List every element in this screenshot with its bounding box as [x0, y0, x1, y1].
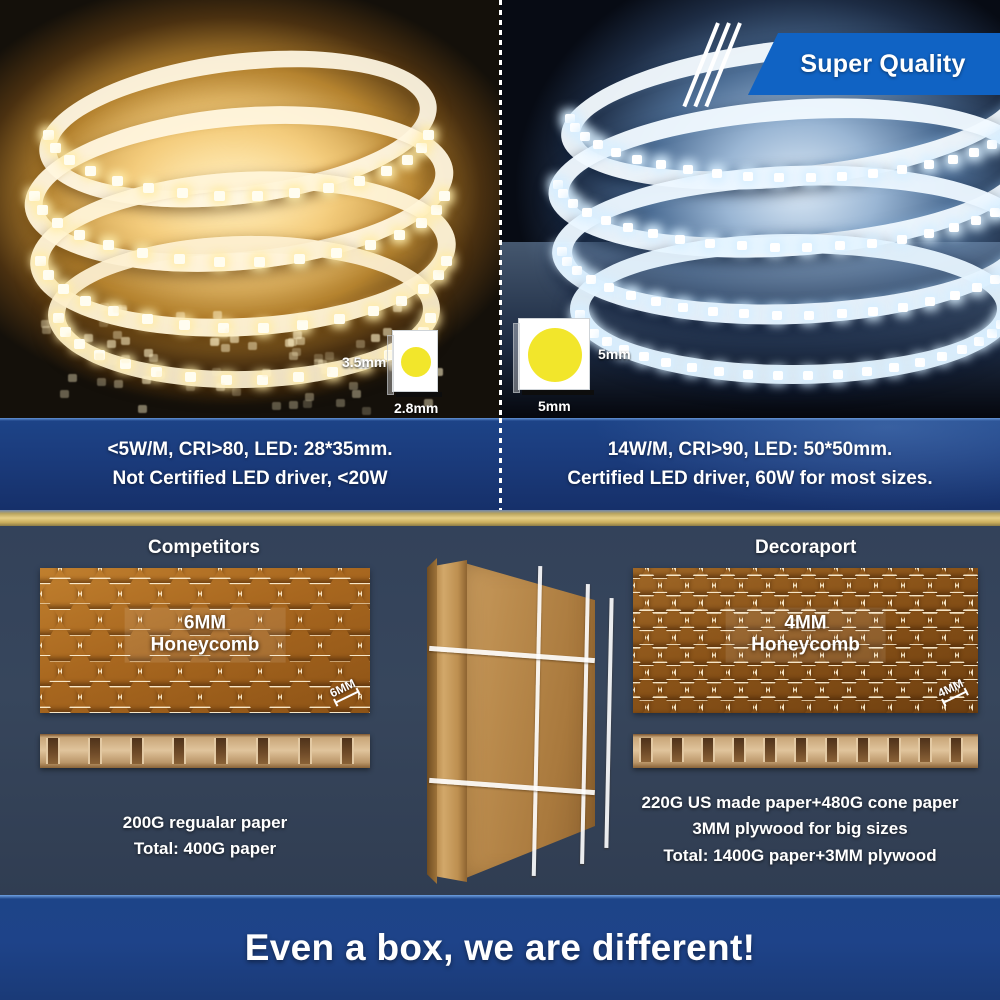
light-reflection: [248, 342, 257, 350]
cross-section-cell: [763, 738, 777, 762]
decoraport-honeycomb-label: 4MM Honeycomb: [725, 607, 886, 662]
honeycomb-size-line1: 4MM: [751, 612, 860, 634]
light-reflection: [325, 352, 334, 360]
led-dot: [678, 303, 688, 312]
light-reflection: [289, 352, 298, 360]
light-reflection: [285, 339, 294, 347]
competitor-honeycomb-label: 6MM Honeycomb: [125, 607, 286, 662]
led-dot: [425, 313, 436, 323]
gold-separator-band: [0, 510, 1000, 526]
led-dot: [74, 230, 85, 240]
paper-spec-line: 200G regualar paper: [40, 810, 370, 836]
light-reflection: [121, 355, 130, 363]
led-dot: [957, 345, 967, 354]
light-reflection: [356, 340, 365, 348]
led-dot: [971, 216, 981, 225]
cross-section-cell: [340, 738, 354, 764]
cross-section-cell: [701, 738, 715, 762]
led-dot: [868, 169, 878, 178]
competitors-title: Competitors: [148, 537, 260, 559]
light-reflection: [60, 390, 69, 398]
led-dot: [439, 191, 450, 201]
led-dot: [43, 270, 54, 280]
spec-column-right: 14W/M, CRI>90, LED: 50*50mm. Certified L…: [500, 418, 1000, 510]
led-dot: [258, 323, 269, 333]
led-dot: [562, 257, 572, 266]
cross-section-cell: [887, 738, 901, 762]
chip-height-label: 3.5mm: [342, 354, 386, 370]
spec-band-dashed-divider: [499, 418, 502, 510]
led-dot: [58, 284, 69, 294]
led-dot: [565, 114, 575, 123]
spec-left-line2: Not Certified LED driver, <20W: [112, 468, 387, 490]
led-dot: [889, 363, 899, 372]
chip-width-label: 2.8mm: [394, 400, 438, 416]
ribbon-stripes-icon: [702, 33, 748, 95]
light-reflection: [107, 340, 116, 348]
led-dot: [85, 166, 96, 176]
paper-spec-line: 220G US made paper+480G cone paper: [600, 790, 1000, 816]
cross-section-cell: [825, 738, 839, 762]
led-dot: [632, 155, 642, 164]
chip-height-label: 5mm: [598, 346, 631, 362]
led-dot: [433, 270, 444, 280]
led-dot: [185, 372, 196, 382]
led-dot: [297, 320, 308, 330]
light-reflection: [213, 311, 222, 319]
led-dot: [974, 337, 984, 346]
led-dot: [558, 189, 568, 198]
competitor-board-cross-section: [40, 734, 370, 768]
led-dot: [969, 148, 979, 157]
light-reflection: [289, 401, 298, 409]
led-dot: [112, 176, 123, 186]
led-dot: [37, 205, 48, 215]
honeycomb-size-line2: Honeycomb: [751, 635, 860, 657]
led-dot: [293, 372, 304, 382]
cross-section-cell: [670, 738, 684, 762]
light-reflection: [216, 383, 225, 391]
led-dot: [915, 358, 925, 367]
led-chip-diagram: [518, 318, 590, 390]
led-dot: [675, 235, 685, 244]
led-phosphor-dot: [401, 347, 431, 377]
light-reflection: [212, 368, 221, 376]
led-dot: [331, 248, 342, 258]
led-dot: [897, 165, 907, 174]
led-dot: [43, 130, 54, 140]
light-reflection: [352, 390, 361, 398]
led-dot: [743, 370, 753, 379]
light-reflection: [186, 383, 195, 391]
light-reflection: [176, 312, 185, 320]
light-reflection: [108, 357, 117, 365]
light-reflection: [393, 304, 402, 312]
light-reflection: [66, 333, 75, 341]
led-dot: [897, 235, 907, 244]
competitor-paper-specs: 200G regualar paper Total: 400G paper: [40, 810, 370, 863]
led-dot: [937, 352, 947, 361]
led-dot: [837, 172, 847, 181]
decoraport-paper-specs: 220G US made paper+480G cone paper 3MM p…: [600, 790, 1000, 869]
led-dot: [803, 371, 813, 380]
light-reflection: [230, 335, 239, 343]
led-dot: [593, 140, 603, 149]
led-dot: [623, 223, 633, 232]
light-reflection: [41, 320, 50, 328]
light-reflection: [97, 378, 106, 386]
bottom-headline-band: Even a box, we are different!: [0, 895, 1000, 1000]
led-dot: [441, 256, 452, 266]
led-dot: [687, 363, 697, 372]
led-dot: [50, 143, 61, 153]
paper-spec-line: Total: 1400G paper+3MM plywood: [600, 843, 1000, 869]
led-dot: [572, 266, 582, 275]
cross-section-cell: [732, 738, 746, 762]
led-dot: [137, 248, 148, 258]
led-dot: [402, 155, 413, 165]
product-photo-area: Super Quality 3.5mm 2.8mm 5mm 5mm: [0, 0, 1000, 418]
infographic-page: Super Quality 3.5mm 2.8mm 5mm 5mm <5W/M,…: [0, 0, 1000, 1000]
cross-section-cell: [172, 738, 186, 764]
led-dot: [712, 169, 722, 178]
decoraport-board-cross-section: [633, 734, 978, 768]
led-dot: [52, 218, 63, 228]
led-chip-callout-left: 3.5mm 2.8mm: [392, 330, 438, 392]
led-dot: [737, 241, 747, 250]
led-chip-callout-right: 5mm 5mm: [518, 318, 590, 390]
cross-section-texture: [40, 734, 370, 768]
led-dot: [683, 165, 693, 174]
led-dot: [570, 123, 580, 132]
led-dot: [580, 132, 590, 141]
decoraport-title: Decoraport: [755, 537, 856, 559]
led-dot: [214, 257, 225, 267]
light-reflection: [298, 313, 307, 321]
spec-column-left: <5W/M, CRI>80, LED: 28*35mm. Not Certifi…: [0, 418, 500, 510]
led-dot: [656, 160, 666, 169]
led-dot: [365, 240, 376, 250]
led-dot: [423, 130, 434, 140]
led-dot: [368, 306, 379, 316]
light-reflection: [262, 369, 271, 377]
cross-section-cell: [46, 738, 60, 764]
led-dot: [990, 275, 1000, 284]
led-dot: [639, 352, 649, 361]
led-dot: [103, 240, 114, 250]
light-reflection: [305, 393, 314, 401]
led-dot: [214, 191, 225, 201]
led-dot: [924, 160, 934, 169]
light-reflection: [221, 344, 230, 352]
led-dot: [705, 239, 715, 248]
carton-edge: [427, 558, 437, 884]
paper-spec-line: Total: 400G paper: [40, 836, 370, 862]
cross-section-cell: [794, 738, 808, 762]
led-dot: [254, 257, 265, 267]
spec-right-line1: 14W/M, CRI>90, LED: 50*50mm.: [608, 439, 893, 461]
cross-section-cell: [639, 738, 653, 762]
led-dot: [418, 284, 429, 294]
led-dot: [987, 140, 997, 149]
cross-section-cell: [856, 738, 870, 762]
led-dot: [586, 275, 596, 284]
led-dot: [651, 297, 661, 306]
led-dot: [862, 367, 872, 376]
led-dot: [648, 229, 658, 238]
led-dot: [708, 307, 718, 316]
light-reflection: [371, 334, 380, 342]
led-dot: [53, 313, 64, 323]
led-dot: [837, 309, 847, 318]
super-quality-label: Super Quality: [782, 50, 965, 79]
led-dot: [802, 243, 812, 252]
led-dot: [898, 303, 908, 312]
led-dot: [431, 205, 442, 215]
cross-section-cell: [918, 738, 932, 762]
cross-section-cell: [88, 738, 102, 764]
light-reflection: [362, 407, 371, 415]
light-reflection: [121, 337, 130, 345]
light-reflection: [156, 371, 165, 379]
light-reflection: [303, 400, 312, 408]
packaging-comparison-section: Competitors Decoraport 6MM Honeycomb 6MM…: [0, 526, 1000, 895]
cross-section-cell: [256, 738, 270, 764]
led-dot: [990, 208, 1000, 217]
led-dot: [772, 311, 782, 320]
spec-right-line2: Certified LED driver, 60W for most sizes…: [567, 468, 932, 490]
led-dot: [661, 358, 671, 367]
light-reflection: [113, 331, 122, 339]
led-dot: [770, 243, 780, 252]
led-dot: [294, 254, 305, 264]
led-dot: [611, 148, 621, 157]
led-dot: [924, 229, 934, 238]
chip-width-label: 5mm: [538, 398, 571, 414]
led-dot: [179, 320, 190, 330]
led-dot: [334, 314, 345, 324]
led-dot: [589, 329, 599, 338]
cross-section-cell: [298, 738, 312, 764]
light-reflection: [138, 405, 147, 413]
led-dot: [64, 155, 75, 165]
cross-section-cell: [949, 738, 963, 762]
led-dot: [996, 320, 1000, 329]
led-dot: [568, 199, 578, 208]
led-dot: [252, 191, 263, 201]
led-dot: [416, 143, 427, 153]
competitor-honeycomb-image: 6MM Honeycomb 6MM: [40, 568, 370, 713]
light-reflection: [84, 334, 93, 342]
light-reflection: [318, 360, 327, 368]
led-dot: [174, 254, 185, 264]
led-phosphor-dot: [528, 328, 582, 382]
honeycomb-size-line2: Honeycomb: [151, 635, 260, 657]
led-dot: [553, 180, 563, 189]
led-dot: [323, 183, 334, 193]
led-dot: [714, 367, 724, 376]
cross-section-texture: [633, 734, 978, 768]
light-reflection: [219, 330, 228, 338]
led-dot: [381, 166, 392, 176]
led-dot: [987, 329, 997, 338]
led-dot: [354, 176, 365, 186]
led-dot: [626, 291, 636, 300]
led-dot: [948, 155, 958, 164]
super-quality-badge: Super Quality: [748, 33, 1000, 95]
honeycomb-size-line1: 6MM: [151, 612, 260, 634]
light-reflection: [349, 382, 358, 390]
led-dot: [143, 183, 154, 193]
led-dot: [416, 218, 427, 228]
led-dot: [833, 370, 843, 379]
vertical-dashed-divider: [499, 0, 502, 418]
led-dot: [142, 314, 153, 324]
light-reflection: [144, 349, 153, 357]
led-dot: [925, 297, 935, 306]
led-chip-diagram: [392, 330, 438, 392]
light-reflection: [114, 380, 123, 388]
light-reflection: [232, 388, 241, 396]
carton-front-face: [461, 562, 595, 880]
led-dot: [557, 247, 567, 256]
led-dot: [601, 216, 611, 225]
spec-left-line1: <5W/M, CRI>80, LED: 28*35mm.: [107, 439, 392, 461]
light-reflection: [95, 353, 104, 361]
led-dot: [774, 173, 784, 182]
decoraport-honeycomb-image: 4MM Honeycomb 4MM: [633, 568, 978, 713]
led-dot: [35, 256, 46, 266]
led-dot: [289, 188, 300, 198]
led-dot: [950, 291, 960, 300]
led-dot: [177, 188, 188, 198]
light-reflection: [100, 303, 109, 311]
light-reflection: [272, 402, 281, 410]
led-dot: [835, 241, 845, 250]
led-dot: [743, 172, 753, 181]
led-dot: [604, 283, 614, 292]
packaging-carton-image: [425, 556, 595, 886]
led-dot: [29, 191, 40, 201]
cross-section-cell: [214, 738, 228, 764]
led-dot: [602, 337, 612, 346]
led-dot: [806, 173, 816, 182]
led-dot: [80, 296, 91, 306]
light-reflection: [68, 374, 77, 382]
light-reflection: [142, 376, 151, 384]
led-dot: [739, 309, 749, 318]
led-dot: [972, 283, 982, 292]
light-reflection: [296, 337, 305, 345]
light-reflection: [194, 328, 203, 336]
led-dot: [949, 223, 959, 232]
cross-section-cell: [130, 738, 144, 764]
led-dot: [867, 239, 877, 248]
led-dot: [582, 208, 592, 217]
led-dot: [773, 371, 783, 380]
paper-spec-line: 3MM plywood for big sizes: [600, 816, 1000, 842]
light-reflection: [336, 399, 345, 407]
headline-text: Even a box, we are different!: [245, 927, 755, 969]
led-dot: [804, 311, 814, 320]
light-reflection: [210, 338, 219, 346]
light-reflection: [99, 319, 108, 327]
led-dot: [868, 307, 878, 316]
led-dot: [394, 230, 405, 240]
light-reflection: [113, 305, 122, 313]
